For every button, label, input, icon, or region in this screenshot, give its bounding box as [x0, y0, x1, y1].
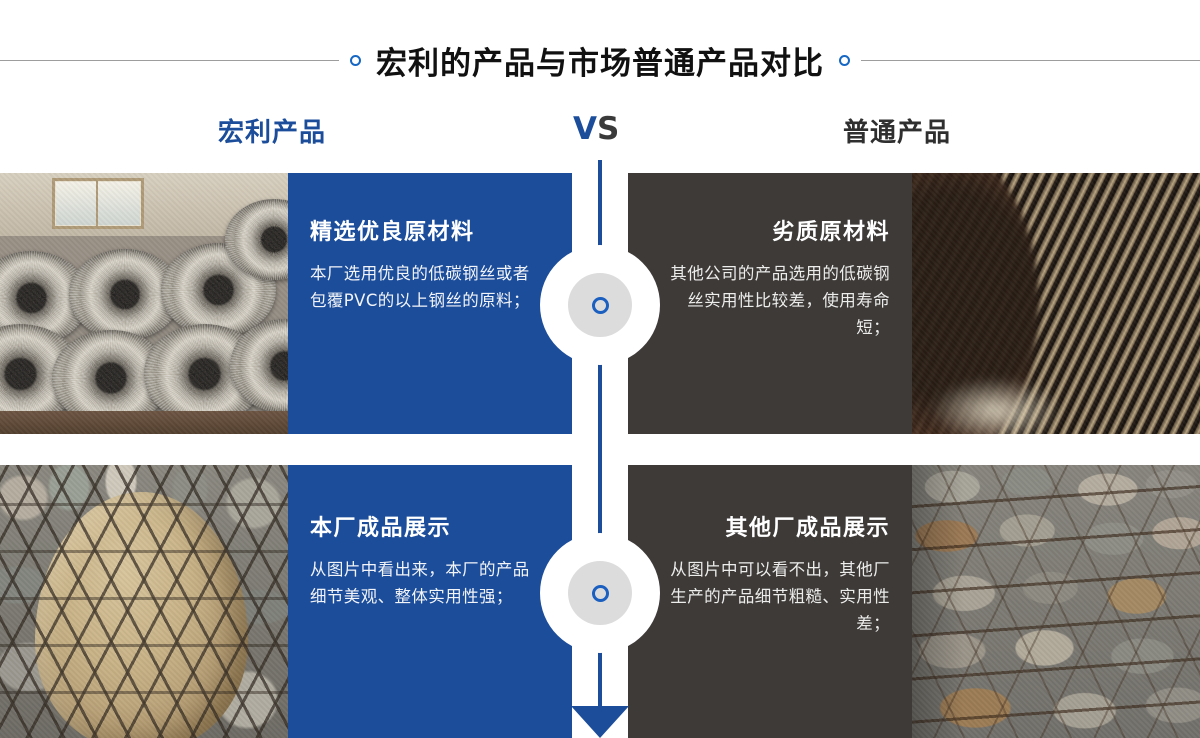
gabion-boulder-photo-art	[0, 465, 288, 738]
title-rule-right	[861, 60, 1200, 61]
panel-body: 本厂选用优良的低碳钢丝或者包覆PVC的以上钢丝的原料；	[310, 261, 546, 314]
circle-marker-icon-right	[839, 55, 850, 66]
title-bar: 宏利的产品与市场普通产品对比	[0, 34, 1200, 86]
panel-ordinary-2: 其他厂成品展示 从图片中可以看不出，其他厂生产的产品细节粗糙、实用性差；	[628, 465, 912, 738]
spine-node-inner	[568, 561, 632, 625]
ring-node-icon	[592, 297, 609, 314]
panel-heading: 其他厂成品展示	[654, 517, 890, 541]
ring-node-icon	[592, 585, 609, 602]
panel-ordinary-1: 劣质原材料 其他公司的产品选用的低碳钢丝实用性比较差，使用寿命短；	[628, 173, 912, 434]
spine-node-1	[540, 245, 660, 365]
panel-heading: 劣质原材料	[654, 221, 890, 245]
column-headings: 宏利产品 VS 普通产品	[0, 112, 1200, 164]
vs-letter-s: S	[597, 111, 619, 147]
photo-gabion-boulder	[0, 465, 288, 738]
panel-body: 从图片中看出来，本厂的产品细节美观、整体实用性强；	[310, 557, 546, 610]
panel-body: 其他公司的产品选用的低碳钢丝实用性比较差，使用寿命短；	[654, 261, 890, 341]
rock-wall-photo-art	[912, 465, 1200, 738]
coils-photo-art	[0, 173, 288, 434]
panel-heading: 本厂成品展示	[310, 517, 546, 541]
title-rule-left	[0, 60, 339, 61]
warehouse-window	[52, 178, 144, 228]
spine-node-2	[540, 533, 660, 653]
panel-ours-1: 精选优良原材料 本厂选用优良的低碳钢丝或者包覆PVC的以上钢丝的原料；	[288, 173, 572, 434]
photo-coils	[0, 173, 288, 434]
panel-ordinary-2-content: 其他厂成品展示 从图片中可以看不出，其他厂生产的产品细节粗糙、实用性差；	[628, 465, 912, 738]
photo-rock-wall	[912, 465, 1200, 738]
rusty-wire-photo-art	[912, 173, 1200, 434]
column-label-ours: 宏利产品	[218, 112, 326, 149]
down-triangle-icon	[571, 706, 629, 738]
hex-wire-mesh	[0, 465, 288, 738]
circle-marker-icon-left	[350, 55, 361, 66]
edge-shadow	[912, 465, 1200, 738]
infographic-stage: 宏利的产品与市场普通产品对比 宏利产品 VS 普通产品	[0, 0, 1200, 738]
panel-heading: 精选优良原材料	[310, 221, 546, 245]
panel-body: 从图片中可以看不出，其他厂生产的产品细节粗糙、实用性差；	[654, 557, 890, 637]
column-label-ordinary: 普通产品	[843, 112, 951, 149]
panel-ours-2-content: 本厂成品展示 从图片中看出来，本厂的产品细节美观、整体实用性强；	[288, 465, 572, 738]
panel-ours-2: 本厂成品展示 从图片中看出来，本厂的产品细节美观、整体实用性强；	[288, 465, 572, 738]
page-title: 宏利的产品与市场普通产品对比	[372, 38, 828, 83]
panel-ordinary-1-content: 劣质原材料 其他公司的产品选用的低碳钢丝实用性比较差，使用寿命短；	[628, 173, 912, 434]
vs-label: VS	[573, 111, 619, 147]
warehouse-floor	[0, 411, 288, 434]
panel-ours-1-content: 精选优良原材料 本厂选用优良的低碳钢丝或者包覆PVC的以上钢丝的原料；	[288, 173, 572, 434]
spine-node-inner	[568, 273, 632, 337]
vs-letter-v: V	[573, 111, 597, 147]
photo-rusty-wire	[912, 173, 1200, 434]
